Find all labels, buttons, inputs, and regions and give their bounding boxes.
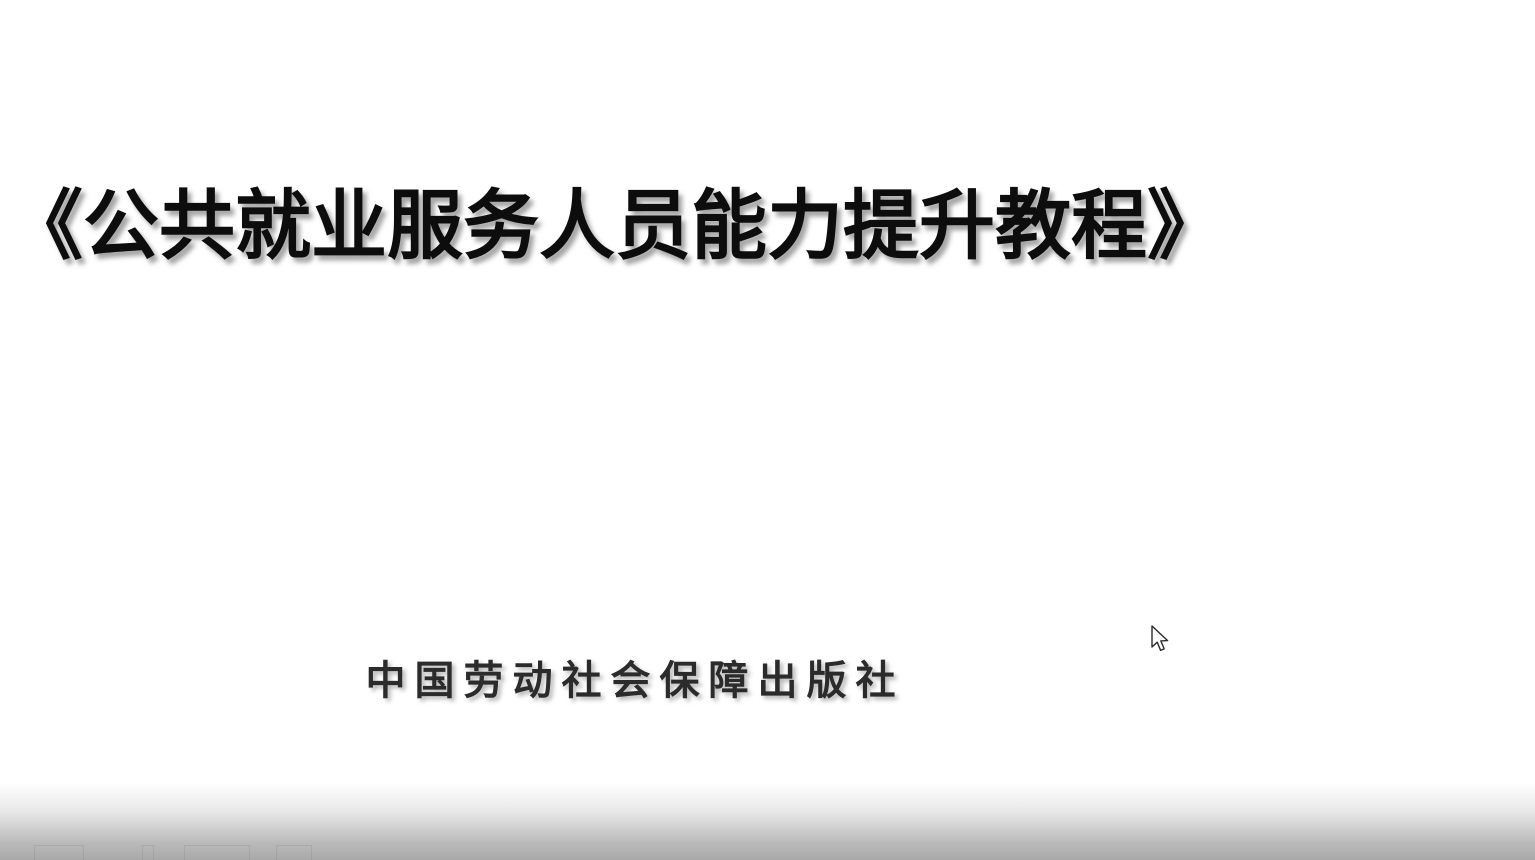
taskbar-hint-4 — [276, 845, 312, 860]
taskbar-gradient-band — [0, 782, 1535, 860]
page-title: 《公共就业服务人员能力提升教程》 — [0, 188, 1230, 264]
publisher-name: 中国劳动社会保障出版社 — [0, 648, 1270, 706]
taskbar-hint-2 — [142, 845, 154, 860]
taskbar-icon-hints — [34, 840, 264, 860]
subtitle-block: 中国劳动社会保障出版社 — [0, 648, 1270, 706]
taskbar-hint-1 — [34, 845, 84, 860]
network-diamond-graphic — [775, 0, 1535, 860]
presentation-slide: 《公共就业服务人员能力提升教程》 中国劳动社会保障出版社 — [0, 0, 1535, 860]
title-block: 《公共就业服务人员能力提升教程》 — [0, 188, 1230, 264]
mouse-pointer — [1150, 625, 1172, 655]
taskbar-hint-3 — [184, 845, 250, 860]
